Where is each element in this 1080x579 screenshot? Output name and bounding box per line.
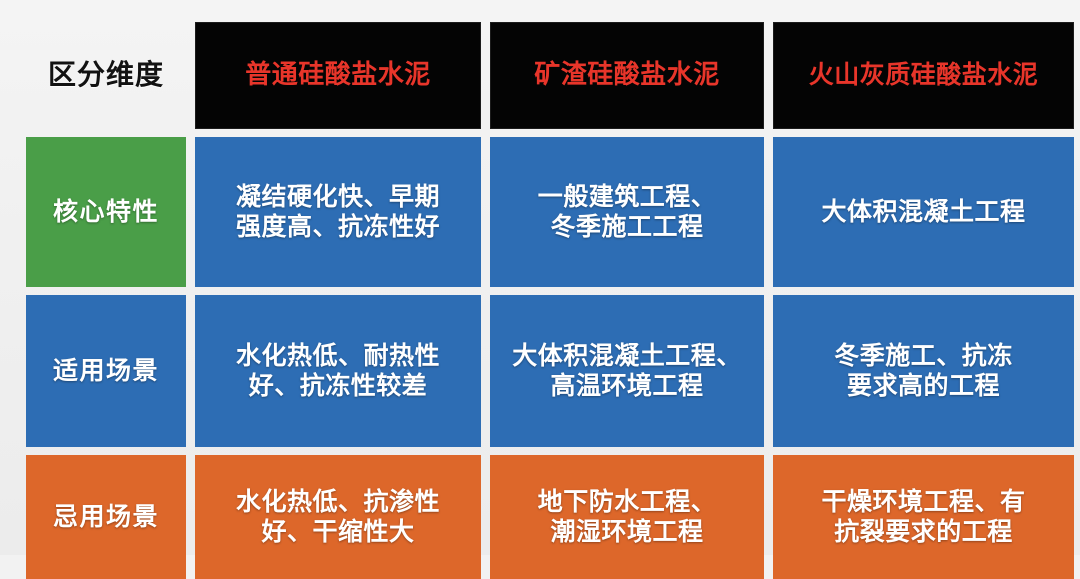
table-cell-suitable-opc: 水化热低、耐热性 好、抗冻性较差 <box>195 295 481 447</box>
table-cell-avoid-opc: 水化热低、抗渗性 好、干缩性大 <box>195 455 481 579</box>
table-cell-suitable-pss: 大体积混凝土工程、 高温环境工程 <box>490 295 764 447</box>
column-header-pss-label: 矿渣硅酸盐水泥 <box>534 60 720 92</box>
column-header-opc: 普通硅酸盐水泥 <box>195 22 481 129</box>
row-header-suitable-scenarios-label: 适用场景 <box>53 356 159 387</box>
comparison-table-slide: 区分维度 普通硅酸盐水泥 矿渣硅酸盐水泥 火山灰质硅酸盐水泥 核心特性 凝结硬化… <box>0 0 1080 555</box>
row-header-suitable-scenarios: 适用场景 <box>26 295 186 447</box>
cement-comparison-table: 区分维度 普通硅酸盐水泥 矿渣硅酸盐水泥 火山灰质硅酸盐水泥 核心特性 凝结硬化… <box>26 22 1056 555</box>
row-header-avoid-scenarios-label: 忌用场景 <box>53 502 159 533</box>
table-cell-core-opc: 凝结硬化快、早期 强度高、抗冻性好 <box>195 137 481 287</box>
row-header-core-properties-label: 核心特性 <box>53 197 159 228</box>
column-header-ppc: 火山灰质硅酸盐水泥 <box>773 22 1074 129</box>
table-cell-avoid-ppc-text: 干燥环境工程、有 抗裂要求的工程 <box>821 487 1025 548</box>
table-cell-suitable-opc-text: 水化热低、耐热性 好、抗冻性较差 <box>236 341 440 402</box>
table-cell-core-ppc: 大体积混凝土工程 <box>773 137 1074 287</box>
table-cell-core-pss: 一般建筑工程、 冬季施工工程 <box>490 137 764 287</box>
table-cell-core-ppc-text: 大体积混凝土工程 <box>821 197 1025 228</box>
table-cell-avoid-opc-text: 水化热低、抗渗性 好、干缩性大 <box>236 487 440 548</box>
table-cell-avoid-pss: 地下防水工程、 潮湿环境工程 <box>490 455 764 579</box>
table-cell-core-opc-text: 凝结硬化快、早期 强度高、抗冻性好 <box>236 182 440 243</box>
column-header-opc-label: 普通硅酸盐水泥 <box>245 60 431 92</box>
table-cell-core-pss-text: 一般建筑工程、 冬季施工工程 <box>538 182 717 243</box>
corner-label: 区分维度 <box>48 58 164 92</box>
table-corner-header: 区分维度 <box>26 22 186 129</box>
table-cell-suitable-ppc: 冬季施工、抗冻 要求高的工程 <box>773 295 1074 447</box>
table-cell-avoid-pss-text: 地下防水工程、 潮湿环境工程 <box>538 487 717 548</box>
table-cell-avoid-ppc: 干燥环境工程、有 抗裂要求的工程 <box>773 455 1074 579</box>
column-header-pss: 矿渣硅酸盐水泥 <box>490 22 764 129</box>
row-header-core-properties: 核心特性 <box>26 137 186 287</box>
table-cell-suitable-pss-text: 大体积混凝土工程、 高温环境工程 <box>512 341 742 402</box>
column-header-ppc-label: 火山灰质硅酸盐水泥 <box>809 60 1039 91</box>
row-header-avoid-scenarios: 忌用场景 <box>26 455 186 579</box>
table-cell-suitable-ppc-text: 冬季施工、抗冻 要求高的工程 <box>834 341 1013 402</box>
